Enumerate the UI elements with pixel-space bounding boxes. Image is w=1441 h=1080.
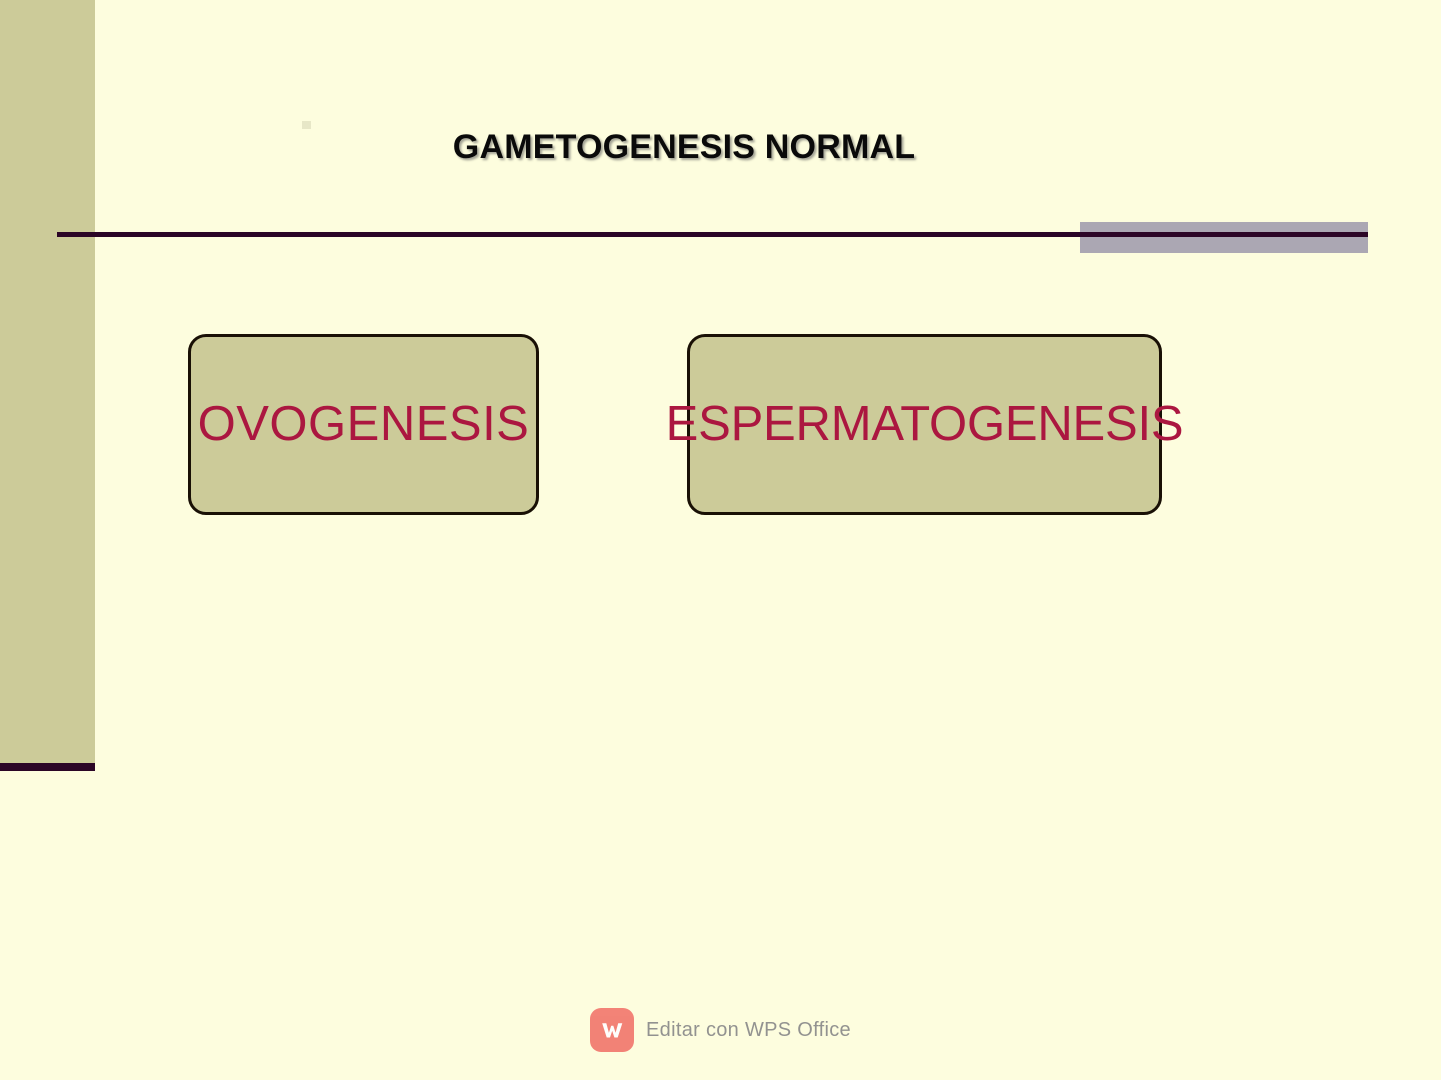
concept-box-espermatogenesis[interactable]: ESPERMATOGENESIS	[687, 334, 1162, 515]
wps-office-watermark[interactable]: Editar con WPS Office	[0, 1008, 1441, 1052]
slide-title: GAMETOGENESIS NORMAL	[0, 128, 1368, 167]
wps-watermark-caption: Editar con WPS Office	[646, 1019, 851, 1042]
divider-gray-tab	[1080, 222, 1368, 253]
concept-box-label: ESPERMATOGENESIS	[666, 400, 1184, 449]
wps-logo-icon	[590, 1008, 634, 1052]
sidebar-decorative-band	[0, 0, 95, 763]
concept-box-ovogenesis[interactable]: OVOGENESIS	[188, 334, 539, 515]
presentation-slide: GAMETOGENESIS NORMAL OVOGENESIS ESPERMAT…	[0, 0, 1441, 1080]
divider-rule	[57, 232, 1368, 237]
concept-box-label: OVOGENESIS	[198, 400, 530, 449]
sidebar-foot-accent-bar	[0, 763, 95, 771]
